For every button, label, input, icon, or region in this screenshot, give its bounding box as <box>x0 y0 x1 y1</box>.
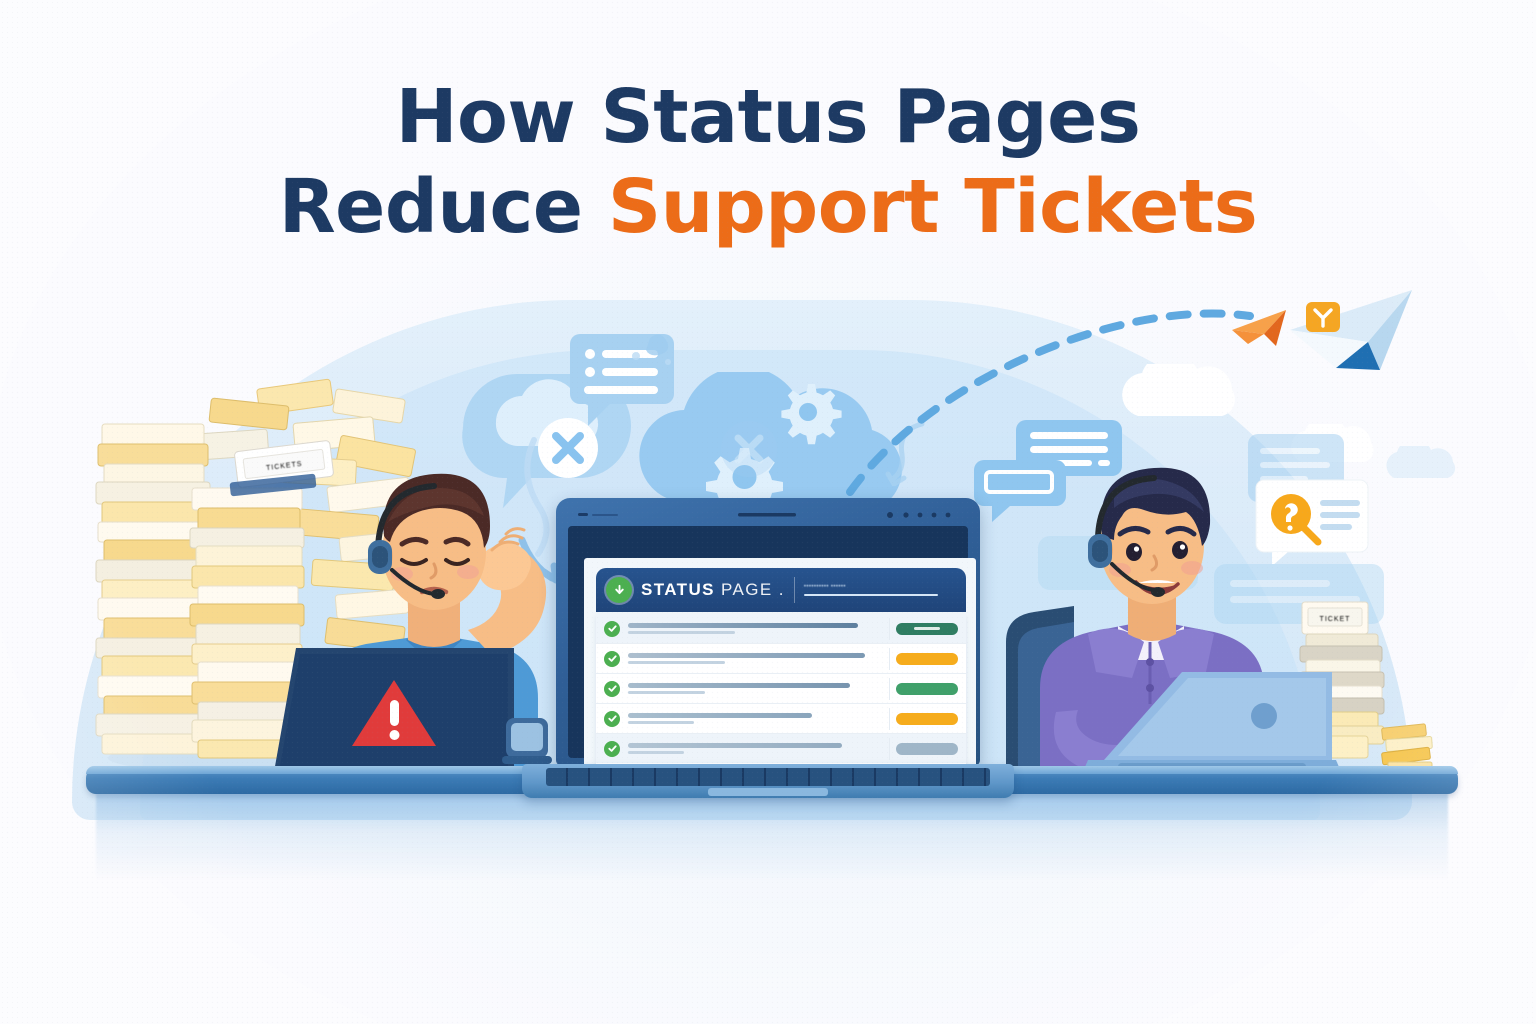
table-row[interactable] <box>596 614 966 644</box>
row-title-bar <box>628 743 842 748</box>
laptop-base <box>522 764 1014 798</box>
status-page-brand: STATUS PAGE . <box>641 580 785 600</box>
status-page-meta-underline <box>804 594 938 596</box>
check-circle-icon <box>604 681 620 697</box>
left-agent-laptop <box>266 640 526 780</box>
check-circle-icon <box>604 741 620 757</box>
laptop-trackpad[interactable] <box>708 788 828 796</box>
cloud-icon <box>1380 446 1460 486</box>
desk-reflection <box>96 793 1448 881</box>
row-sub-bar <box>628 721 694 724</box>
headline: How Status Pages Reduce Support Tickets <box>0 78 1536 247</box>
row-separator <box>889 618 890 640</box>
table-row[interactable] <box>596 704 966 734</box>
row-separator <box>889 708 890 730</box>
row-separator <box>889 648 890 670</box>
row-separator <box>889 678 890 700</box>
table-row[interactable] <box>596 644 966 674</box>
laptop-lid: STATUS PAGE . •••••••••• •••••• <box>556 498 980 766</box>
status-page-brand-light: PAGE . <box>715 580 785 599</box>
row-text <box>628 713 883 724</box>
check-circle-icon <box>604 711 620 727</box>
row-sub-bar <box>628 661 725 664</box>
close-x-icon <box>718 418 780 480</box>
row-text <box>628 653 883 664</box>
status-badge <box>896 653 958 665</box>
check-circle-icon <box>604 651 620 667</box>
paper-plane-icon <box>1284 284 1424 394</box>
laptop-bezel-details <box>578 508 958 522</box>
laptop-keyboard[interactable] <box>546 768 990 786</box>
row-separator <box>889 738 890 760</box>
status-badge <box>896 623 958 635</box>
row-sub-bar <box>628 631 735 634</box>
laptop-bezel: STATUS PAGE . •••••••••• •••••• <box>568 526 968 758</box>
illustration-canvas: How Status Pages Reduce Support Tickets <box>0 0 1536 1024</box>
desk-device-icon <box>502 712 554 768</box>
table-row[interactable] <box>596 674 966 704</box>
status-page-rows <box>596 614 966 774</box>
status-page-header: STATUS PAGE . •••••••••• •••••• <box>596 568 966 612</box>
headline-line-2: Reduce Support Tickets <box>0 168 1536 246</box>
row-title-bar <box>628 683 850 688</box>
sparkle-icon <box>620 328 680 374</box>
status-badge <box>896 683 958 695</box>
download-arrow-circle-icon <box>606 577 632 603</box>
center-laptop: STATUS PAGE . •••••••••• •••••• <box>556 498 980 798</box>
row-sub-bar <box>628 751 684 754</box>
row-sub-bar <box>628 691 705 694</box>
right-agent-laptop <box>1078 664 1346 780</box>
row-title-bar <box>628 713 812 718</box>
status-page-meta: •••••••••• •••••• <box>804 584 956 596</box>
row-text <box>628 683 883 694</box>
status-page-meta-text: •••••••••• •••••• <box>804 584 956 590</box>
row-text <box>628 743 883 754</box>
status-page-brand-bold: STATUS <box>641 580 715 599</box>
status-badge <box>896 713 958 725</box>
table-row[interactable] <box>596 734 966 763</box>
check-circle-icon <box>604 621 620 637</box>
headline-accent: Support Tickets <box>608 164 1257 250</box>
headline-line-1: How Status Pages <box>0 78 1536 156</box>
headline-line-2-prefix: Reduce <box>279 164 608 250</box>
row-title-bar <box>628 623 858 628</box>
status-badge <box>896 743 958 755</box>
status-page-screen: STATUS PAGE . •••••••••• •••••• <box>584 558 976 782</box>
row-title-bar <box>628 653 865 658</box>
row-text <box>628 623 883 634</box>
header-divider <box>794 577 795 603</box>
